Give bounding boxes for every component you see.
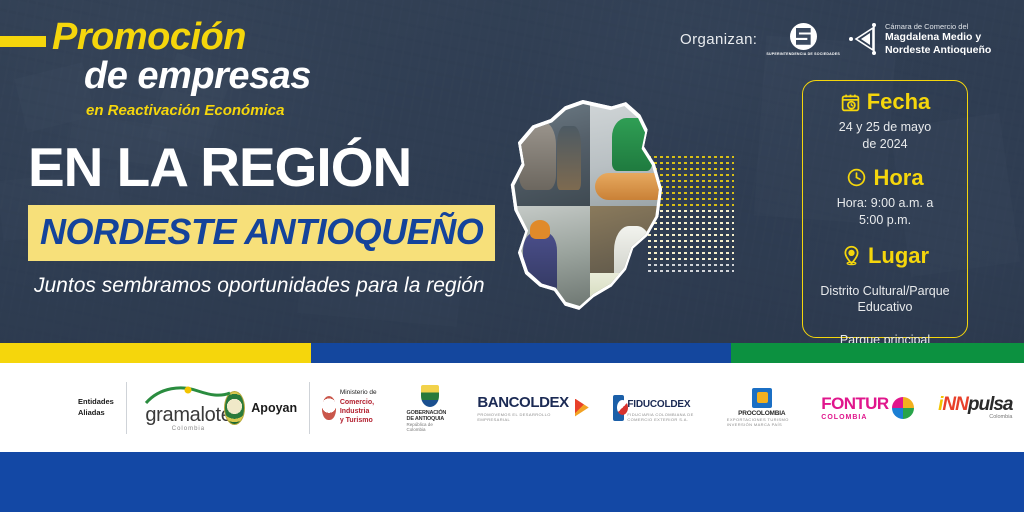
camara-flag-icon: [849, 22, 879, 56]
hora-value-line1: Hora: 9:00 a.m. a: [811, 195, 959, 212]
stripe-blue: [311, 343, 731, 363]
lugar-label: Lugar: [868, 245, 929, 267]
entidades-aliadas-label: Entidades Aliadas: [78, 397, 114, 417]
innpulsa-word-b: NN: [942, 394, 967, 415]
gobernacion-line2: República de Colombia: [407, 422, 453, 432]
fecha-value-line2: de 2024: [811, 136, 959, 153]
colombia-flag-stripe: [0, 343, 1024, 363]
bancoldex-wordmark: BANCOLDEX: [477, 394, 568, 411]
hora-value-line2: 5:00 p.m.: [811, 212, 959, 229]
fiducoldex-logo: FIDUCOLDEX FIDUCIARIA COLOMBIANA DE COME…: [613, 394, 702, 422]
fontur-logo: FONTUR COLOMBIA: [821, 395, 913, 421]
fecha-value: 24 y 25 de mayo de 2024: [811, 119, 959, 153]
lugar-value: Distrito Cultural/Parque Educativo: [811, 283, 959, 317]
fecha-heading: Fecha: [811, 91, 959, 113]
headline-main: EN LA REGIÓN: [28, 140, 498, 195]
fontur-sub: COLOMBIA: [821, 414, 888, 421]
logo-list: Entidades Aliadas gramalote Colombia Apo…: [0, 382, 1024, 434]
gramalote-wordmark: gramalote: [145, 405, 231, 425]
antioquia-map-photo-collage: [500, 100, 680, 312]
lugar-heading: Lugar: [811, 245, 959, 267]
promotional-banner: Promoción de empresas en Reactivación Ec…: [0, 0, 1024, 512]
gramalote-arc-icon: [142, 383, 234, 405]
headline-region-band: NORDESTE ANTIOQUEÑO: [28, 205, 495, 261]
photo-woman-with-bread: [590, 104, 676, 206]
photo-farmer-with-mule: [504, 104, 590, 206]
innpulsa-sub: Colombia: [989, 414, 1012, 420]
fiducoldex-mark-icon: [613, 395, 624, 421]
fiducoldex-sub: FIDUCIARIA COLOMBIANA DE COMERCIO EXTERI…: [627, 412, 702, 422]
kicker-line2: de empresas: [52, 56, 472, 97]
supersociedades-mark-icon: [790, 23, 817, 50]
bottom-blue-band: [0, 452, 1024, 512]
kicker-line3: en Reactivación Económica: [52, 103, 472, 118]
logo-divider: [309, 382, 310, 434]
gobernacion-line1: GOBERNACIÓN DE ANTIOQUIA: [407, 410, 453, 422]
location-pin-icon: [841, 245, 862, 266]
kicker-block: Promoción de empresas en Reactivación Ec…: [52, 18, 472, 118]
ministerio-seal-icon: [322, 396, 336, 420]
innpulsa-wordmark: iNNpulsa: [938, 395, 1012, 414]
fiducoldex-wordmark: FIDUCOLDEX: [627, 399, 690, 410]
photo-lab-worker: [590, 206, 676, 308]
yellow-dash-accent: [0, 36, 46, 47]
ministerio-text: Ministerio de Comercio, Industria y Turi…: [340, 389, 382, 426]
entidades-aliadas-line1: Entidades: [78, 397, 114, 407]
bancoldex-mark-icon: [575, 399, 589, 417]
headline-block: EN LA REGIÓN NORDESTE ANTIOQUEÑO Juntos …: [28, 140, 498, 296]
stripe-yellow: [0, 343, 311, 363]
entidades-aliadas-line2: Aliadas: [78, 408, 114, 418]
innpulsa-logo: iNNpulsa Colombia: [938, 395, 1012, 420]
kicker-line1: Promoción: [52, 18, 472, 56]
fontur-wordmark: FONTUR: [821, 394, 888, 413]
ministerio-line3: y Turismo: [340, 417, 373, 424]
procolombia-wordmark: PROCOLOMBIA: [738, 410, 785, 417]
stripe-green: [731, 343, 1024, 363]
clock-icon: [846, 167, 867, 188]
apoyan-label: Apoyan: [251, 401, 297, 415]
supersociedades-name: SUPERINTENDENCIA DE SOCIEDADES: [766, 52, 840, 56]
bancoldex-sub: PROMOVEMOS EL DESARROLLO EMPRESARIAL: [477, 412, 571, 422]
sponsor-logo-bar: Entidades Aliadas gramalote Colombia Apo…: [0, 363, 1024, 452]
gobernacion-antioquia-logo: GOBERNACIÓN DE ANTIOQUIA República de Co…: [407, 384, 453, 432]
lugar-value-line1: Distrito Cultural/Parque: [811, 283, 959, 300]
organizers-block: Organizan: SUPERINTENDENCIA DE SOCIEDADE…: [680, 22, 991, 57]
innpulsa-word-c: pulsa: [968, 394, 1013, 415]
lugar-value-line2: Educativo: [811, 299, 959, 316]
ministerio-line2: Comercio, Industria: [340, 399, 374, 415]
ministerio-comercio-logo: Ministerio de Comercio, Industria y Turi…: [322, 389, 382, 426]
event-info-panel: Fecha 24 y 25 de mayo de 2024 Hora Hora:…: [802, 80, 968, 338]
camara-line2: Magdalena Medio y: [885, 31, 991, 44]
procolombia-logo: PROCOLOMBIA EXPORTACIONES TURISMO INVERS…: [727, 388, 797, 427]
organizers-label: Organizan:: [680, 31, 757, 48]
camara-line3: Nordeste Antioqueño: [885, 44, 991, 57]
fecha-label: Fecha: [867, 91, 931, 113]
ministerio-line1: Ministerio de: [340, 389, 377, 396]
hora-label: Hora: [873, 167, 923, 189]
hora-value: Hora: 9:00 a.m. a 5:00 p.m.: [811, 195, 959, 229]
hora-heading: Hora: [811, 167, 959, 189]
camara-line1: Cámara de Comercio del: [885, 22, 991, 31]
gramalote-logo: gramalote Colombia: [142, 383, 234, 432]
logo-divider: [126, 382, 127, 434]
gobernacion-shield-icon: [420, 384, 440, 408]
procolombia-sub: EXPORTACIONES TURISMO INVERSIÓN MARCA PA…: [727, 417, 797, 427]
camara-comercio-logo: Cámara de Comercio del Magdalena Medio y…: [849, 22, 991, 57]
gramalote-sub: Colombia: [172, 426, 205, 432]
headline-tagline: Juntos sembramos oportunidades para la r…: [34, 275, 498, 296]
photo-welder-worker: [504, 206, 590, 308]
fontur-mark-icon: [892, 397, 914, 419]
calendar-icon: [840, 92, 861, 113]
procolombia-mark-icon: [752, 388, 772, 408]
supersociedades-logo: SUPERINTENDENCIA DE SOCIEDADES: [766, 23, 840, 56]
fecha-value-line1: 24 y 25 de mayo: [811, 119, 959, 136]
bancoldex-logo: BANCOLDEX PROMOVEMOS EL DESARROLLO EMPRE…: [477, 394, 588, 422]
